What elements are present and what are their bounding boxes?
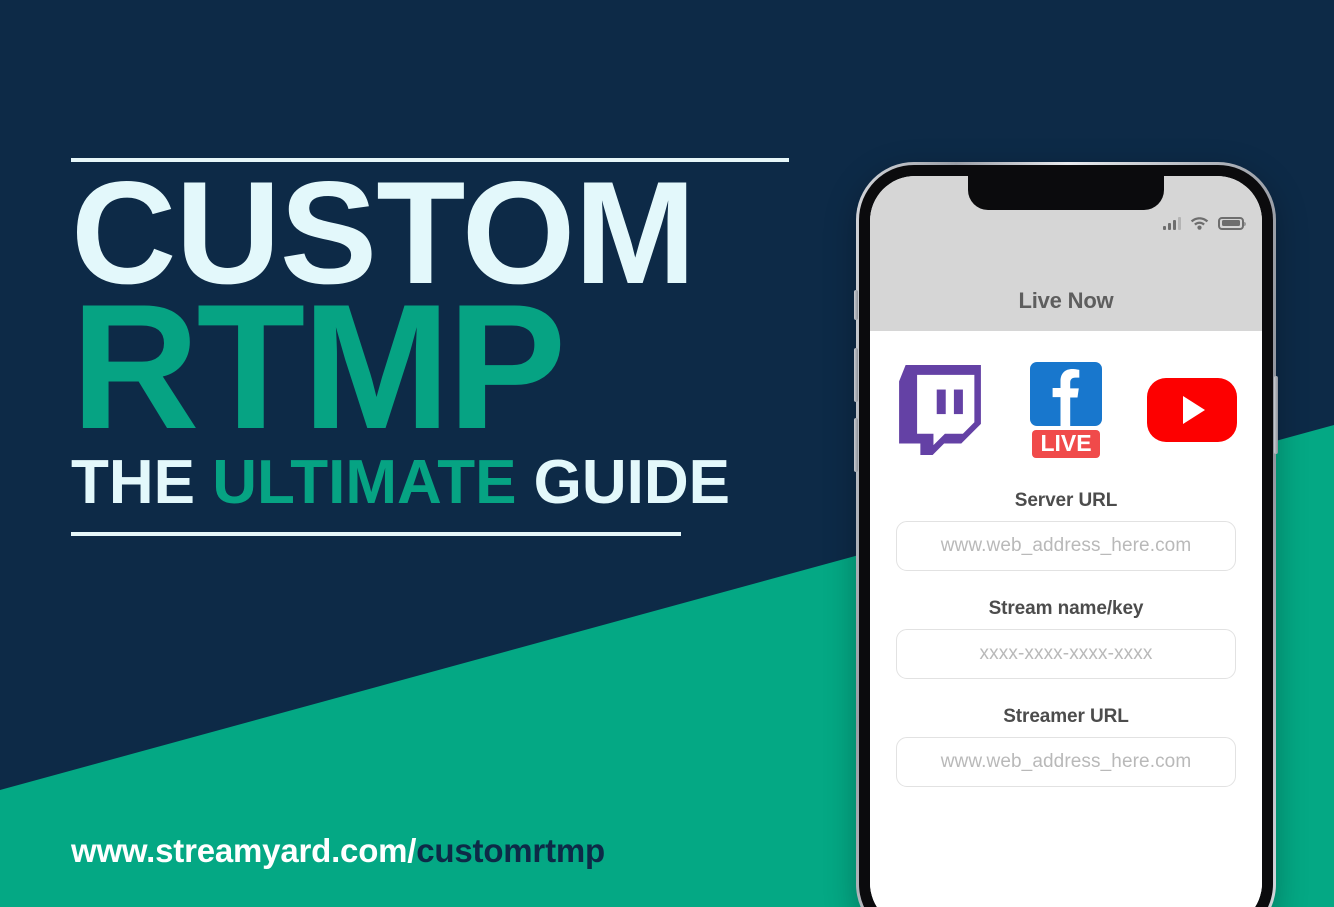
field-streamer-url-input[interactable]: www.web_address_here.com	[896, 737, 1236, 787]
platform-twitch[interactable]	[894, 364, 986, 456]
title-line-rtmp: RTMP	[71, 296, 801, 438]
twitch-icon	[899, 365, 981, 455]
title-line-custom: CUSTOM	[71, 176, 801, 290]
field-stream-key-input[interactable]: xxxx-xxxx-xxxx-xxxx	[896, 629, 1236, 679]
platform-icon-row: LIVE	[870, 364, 1262, 456]
phone-mute-switch[interactable]	[854, 290, 858, 320]
subtitle: THE ULTIMATE GUIDE	[71, 452, 801, 514]
phone-notch	[968, 176, 1164, 210]
field-stream-key: Stream name/key xxxx-xxxx-xxxx-xxxx	[896, 598, 1236, 679]
wifi-icon	[1190, 216, 1209, 230]
field-streamer-url: Streamer URL www.web_address_here.com	[896, 706, 1236, 787]
app-header-title: Live Now	[870, 288, 1262, 314]
status-bar-icons	[1163, 216, 1244, 230]
phone-mockup: Live Now	[856, 162, 1276, 907]
subtitle-suffix: GUIDE	[516, 448, 730, 517]
app-body: LIVE Server URL www.web_address_here.com	[870, 331, 1262, 907]
subtitle-prefix: THE	[71, 448, 212, 517]
field-server-url-input[interactable]: www.web_address_here.com	[896, 521, 1236, 571]
field-server-url: Server URL www.web_address_here.com	[896, 490, 1236, 571]
field-streamer-url-label: Streamer URL	[896, 706, 1236, 728]
platform-facebook-live[interactable]: LIVE	[1020, 364, 1112, 456]
cellular-bars-icon	[1163, 217, 1181, 230]
subtitle-emphasis: ULTIMATE	[212, 448, 516, 517]
phone-screen: Live Now	[870, 176, 1262, 907]
footer-url[interactable]: www.streamyard.com/customrtmp	[71, 832, 605, 870]
youtube-icon	[1147, 378, 1237, 442]
platform-youtube[interactable]	[1146, 364, 1238, 456]
svg-text:LIVE: LIVE	[1040, 430, 1091, 456]
poster-canvas: CUSTOM RTMP THE ULTIMATE GUIDE www.strea…	[0, 0, 1334, 907]
footer-url-slug: customrtmp	[416, 832, 605, 869]
footer-url-domain: www.streamyard.com/	[71, 832, 416, 869]
headline-block: CUSTOM RTMP THE ULTIMATE GUIDE	[71, 158, 801, 536]
battery-icon	[1218, 217, 1244, 230]
phone-volume-up-button[interactable]	[854, 348, 858, 402]
facebook-live-icon: LIVE	[1030, 362, 1102, 458]
app-header-bar: Live Now	[870, 176, 1262, 331]
phone-power-button[interactable]	[1274, 376, 1278, 454]
headline-rule-bottom	[71, 532, 681, 536]
field-stream-key-label: Stream name/key	[896, 598, 1236, 620]
phone-volume-down-button[interactable]	[854, 418, 858, 472]
field-server-url-label: Server URL	[896, 490, 1236, 512]
